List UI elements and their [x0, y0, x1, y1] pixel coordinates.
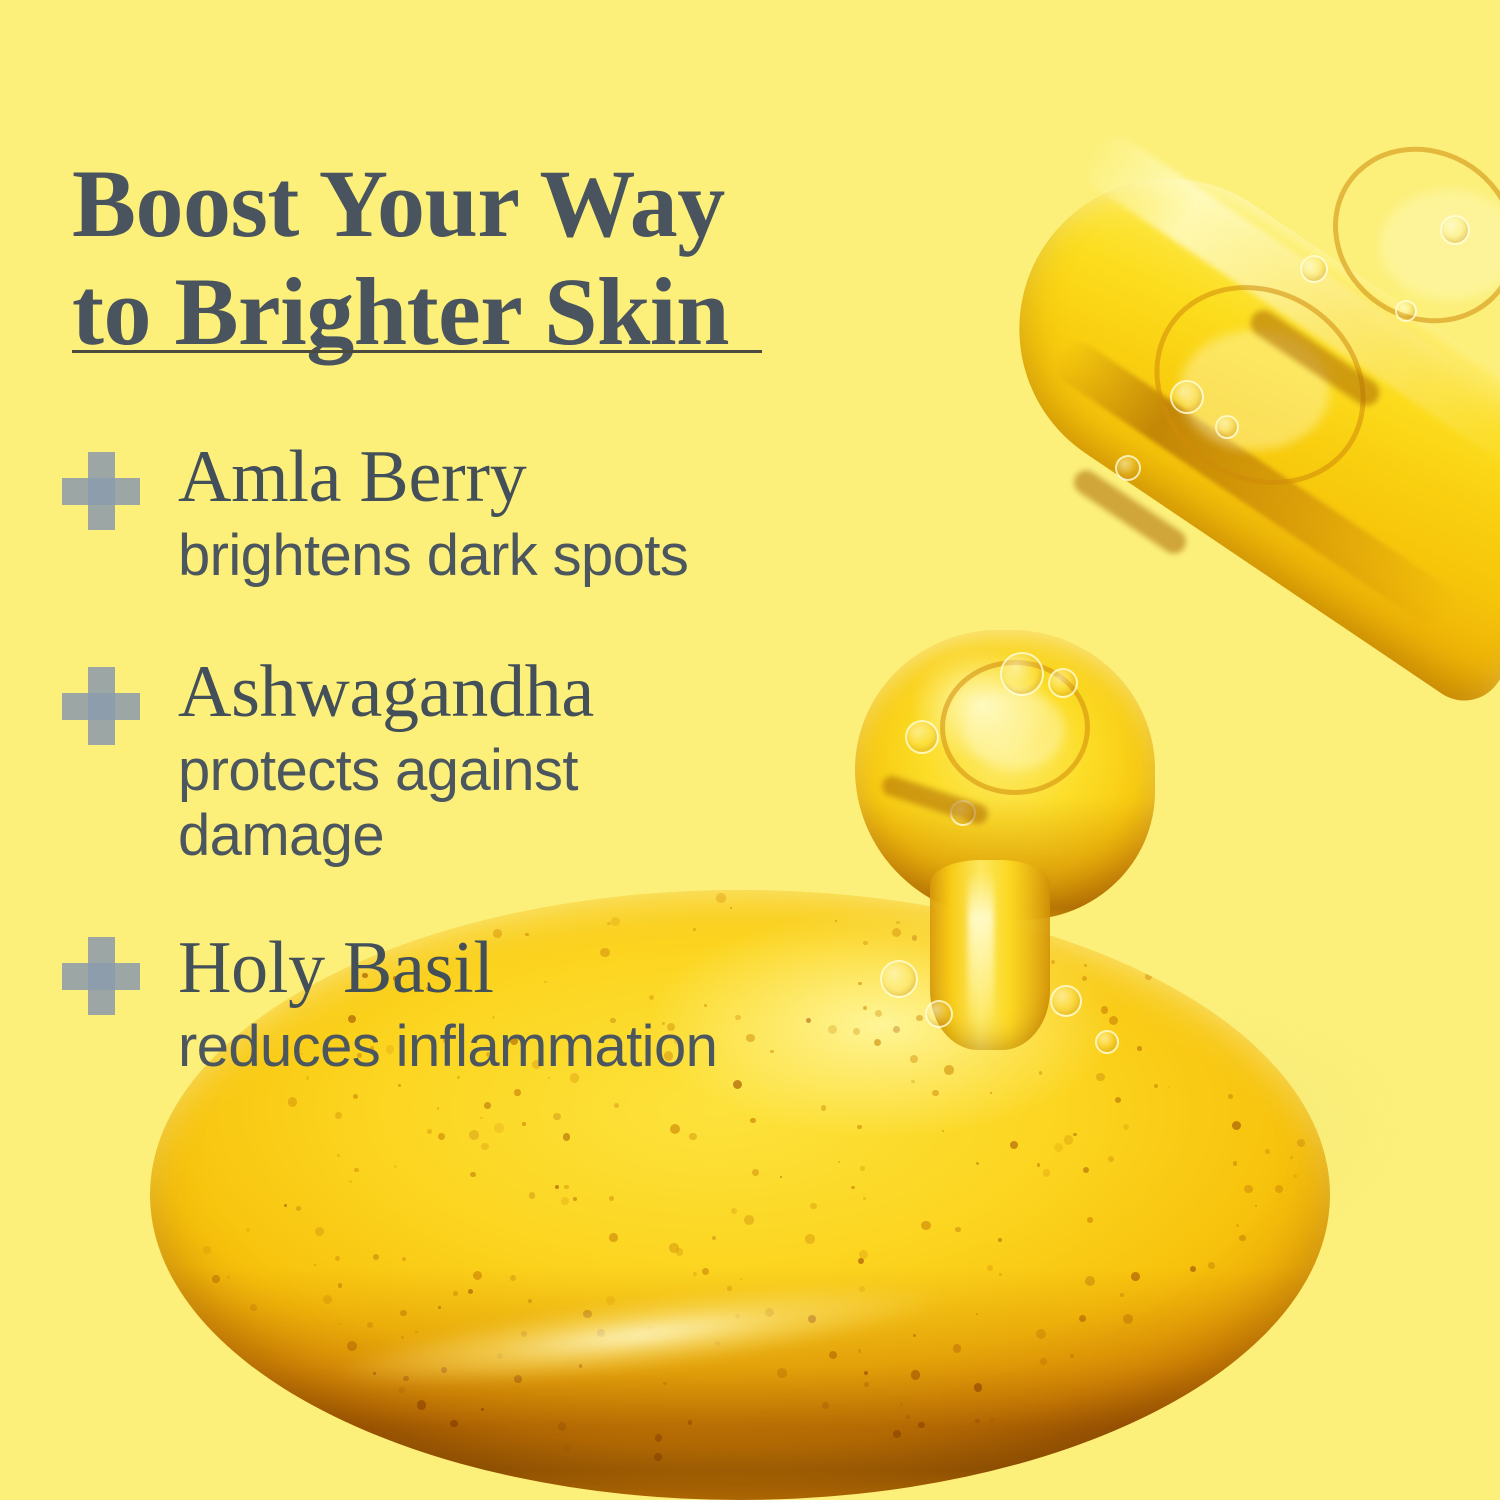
- plus-icon-bar-vertical: [88, 937, 115, 1015]
- page-title: Boost Your Way to Brighter Skin: [72, 150, 832, 365]
- ingredient-name: Amla Berry: [178, 440, 1000, 514]
- plus-icon-bar-vertical: [88, 667, 115, 745]
- list-item: Holy Basil reduces inflammation: [0, 931, 1000, 1080]
- plus-icon: [62, 452, 140, 530]
- list-item-text: Ashwagandha protects against damage: [178, 655, 1000, 869]
- plus-icon: [62, 937, 140, 1015]
- plus-icon: [62, 667, 140, 745]
- list-item-text: Amla Berry brightens dark spots: [178, 440, 1000, 589]
- ingredient-benefit: brightens dark spots: [178, 524, 938, 589]
- ingredient-benefit: protects against damage: [178, 739, 738, 869]
- ingredient-name: Ashwagandha: [178, 655, 1000, 729]
- plus-icon-bar-vertical: [88, 452, 115, 530]
- text-overlay: Boost Your Way to Brighter Skin Amla Ber…: [0, 0, 1500, 1500]
- product-benefits-graphic: Boost Your Way to Brighter Skin Amla Ber…: [0, 0, 1500, 1500]
- list-item: Ashwagandha protects against damage: [0, 655, 1000, 869]
- list-item-text: Holy Basil reduces inflammation: [178, 931, 1000, 1080]
- ingredient-benefit: reduces inflammation: [178, 1015, 938, 1080]
- ingredient-name: Holy Basil: [178, 931, 1000, 1005]
- list-item: Amla Berry brightens dark spots: [0, 440, 1000, 589]
- benefits-list: Amla Berry brightens dark spots Ashwagan…: [0, 440, 1000, 1114]
- title-divider: [72, 350, 762, 353]
